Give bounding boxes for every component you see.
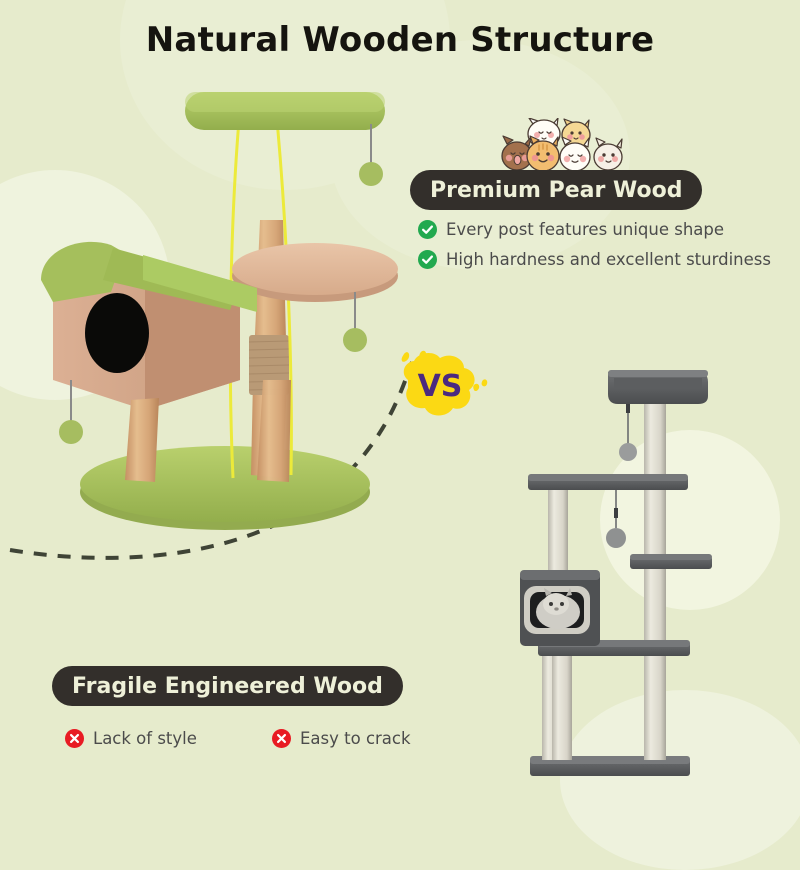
premium-pear-wood-badge: Premium Pear Wood xyxy=(410,170,702,210)
pro-bullet-1-text: Every post features unique shape xyxy=(446,220,724,239)
vs-label: VS xyxy=(418,369,463,404)
infographic-canvas: Natural Wooden Structure xyxy=(0,0,800,800)
vs-badge: VS xyxy=(390,340,500,430)
con-bullet-1: Lack of style xyxy=(65,729,197,748)
gray-carpet-cat-tower-image xyxy=(520,360,770,800)
fragile-engineered-wood-badge: Fragile Engineered Wood xyxy=(52,666,403,706)
premium-pear-wood-label: Premium Pear Wood xyxy=(430,178,682,203)
check-circle-icon xyxy=(418,220,437,239)
fragile-engineered-wood-label: Fragile Engineered Wood xyxy=(72,674,383,699)
con-bullet-2-text: Easy to crack xyxy=(300,729,411,748)
page-title: Natural Wooden Structure xyxy=(0,20,800,60)
x-circle-icon xyxy=(272,729,291,748)
pro-bullet-2-text: High hardness and excellent sturdiness xyxy=(446,250,771,269)
pro-bullet-1: Every post features unique shape xyxy=(418,220,724,239)
green-wooden-cat-tree-image xyxy=(25,80,425,540)
con-bullet-1-text: Lack of style xyxy=(93,729,197,748)
check-circle-icon xyxy=(418,250,437,269)
x-circle-icon xyxy=(65,729,84,748)
con-bullet-2: Easy to crack xyxy=(272,729,411,748)
cat-mascot-group xyxy=(495,118,640,178)
pro-bullet-2: High hardness and excellent sturdiness xyxy=(418,250,771,269)
